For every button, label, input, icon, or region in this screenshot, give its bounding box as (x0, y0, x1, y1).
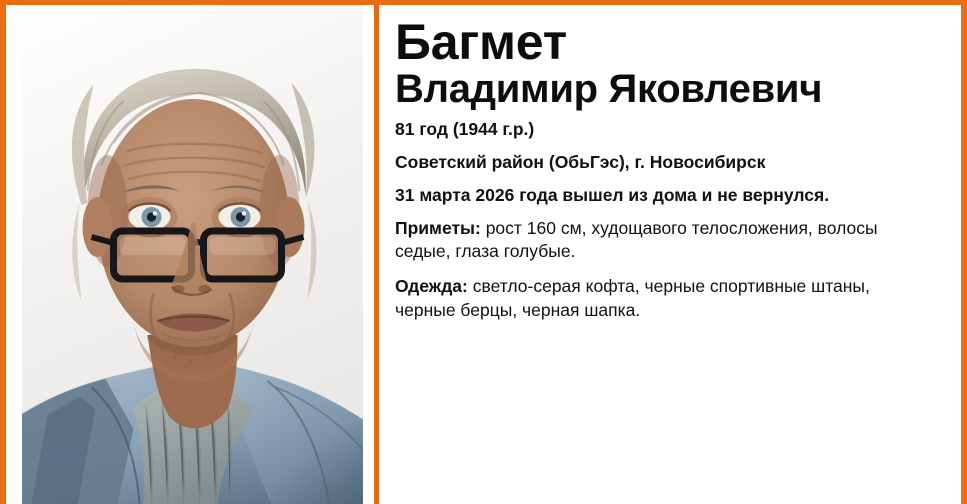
features-paragraph: Приметы: рост 160 см, худощавого телосло… (395, 217, 925, 264)
person-given-name: Владимир Яковлевич (395, 69, 961, 111)
features-label: Приметы: (395, 218, 481, 238)
clothing-label: Одежда: (395, 276, 468, 296)
photo-illustration (22, 5, 363, 504)
info-column: Багмет Владимир Яковлевич 81 год (1944 г… (379, 5, 961, 504)
disappearance-circumstances: 31 марта 2026 года вышел из дома и не ве… (395, 184, 855, 206)
person-surname: Багмет (395, 18, 961, 67)
photo-column (6, 5, 363, 504)
missing-person-photo (22, 5, 363, 504)
missing-person-poster: Багмет Владимир Яковлевич 81 год (1944 г… (0, 0, 967, 504)
clothing-paragraph: Одежда: светло-серая кофта, черные спорт… (395, 275, 931, 322)
person-location: Советский район (ОбьГэс), г. Новосибирск (395, 151, 961, 173)
person-age: 81 год (1944 г.р.) (395, 118, 961, 140)
